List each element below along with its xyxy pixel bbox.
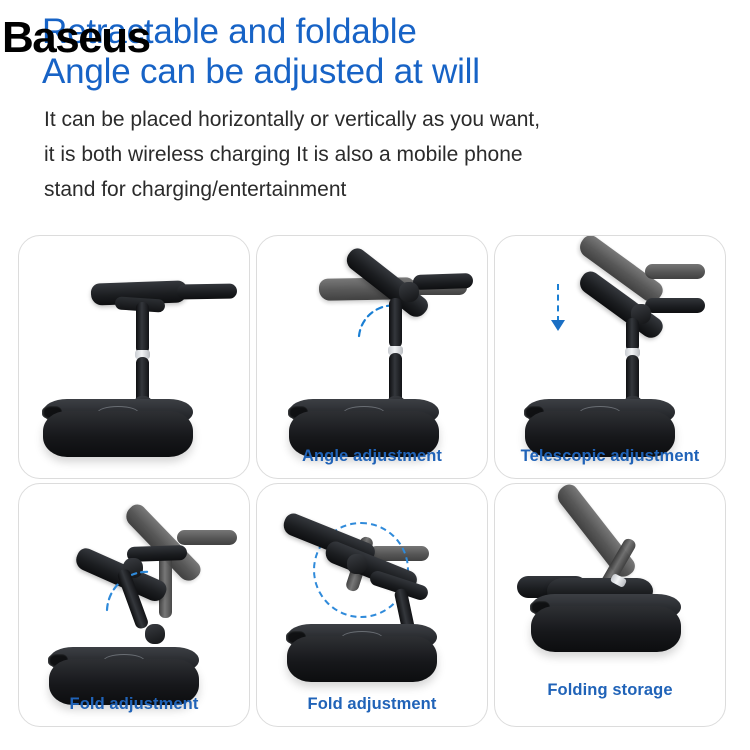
panel-caption: Folding storage xyxy=(495,681,725,700)
fold-hinge xyxy=(347,554,367,574)
panel-caption: Angle adjustment xyxy=(257,447,487,466)
panel-storage: Folding storage xyxy=(494,483,726,727)
product-illustration-angle xyxy=(257,236,487,478)
panel-telescopic: Telescopic adjustment xyxy=(494,235,726,479)
pole-upper xyxy=(389,298,402,348)
telescopic-arrow-icon xyxy=(551,320,565,331)
panel-caption: Fold adjustment xyxy=(19,695,249,714)
angle-arc-annotation xyxy=(353,298,417,342)
ghost-pad-arm xyxy=(177,530,237,545)
base-body xyxy=(531,606,681,652)
pad-arm xyxy=(413,273,473,290)
base-body xyxy=(287,636,437,682)
panel-angle: Angle adjustment xyxy=(256,235,488,479)
pole-upper xyxy=(626,318,639,352)
panel-extended xyxy=(18,235,250,479)
body-line-2: it is both wireless charging It is also … xyxy=(44,137,750,172)
brand-watermark: Baseus xyxy=(2,16,150,60)
panel-caption: Telescopic adjustment xyxy=(495,447,725,466)
body-copy: It can be placed horizontally or vertica… xyxy=(0,92,750,207)
pole-upper xyxy=(136,302,149,354)
product-illustration-telescopic xyxy=(495,236,725,478)
ghost-phone-pad xyxy=(553,483,638,581)
product-illustration-fold-2 xyxy=(257,484,487,726)
panel-caption: Fold adjustment xyxy=(257,695,487,714)
body-line-3: stand for charging/entertainment xyxy=(44,172,750,207)
panel-fold-2: Fold adjustment xyxy=(256,483,488,727)
product-illustration-extended xyxy=(19,236,249,478)
body-line-1: It can be placed horizontally or vertica… xyxy=(44,102,750,137)
telescopic-dashed-line xyxy=(557,284,559,322)
pad-arm xyxy=(177,283,237,299)
feature-panel-grid: Angle adjustment Telescopic adjustment xyxy=(18,235,728,727)
ghost-pad-arm xyxy=(645,264,705,279)
panel-fold-1: Fold adjustment xyxy=(18,483,250,727)
pad-arm xyxy=(645,298,705,313)
base-body xyxy=(43,411,193,457)
base-hinge xyxy=(145,624,165,644)
product-illustration-fold-1 xyxy=(19,484,249,726)
